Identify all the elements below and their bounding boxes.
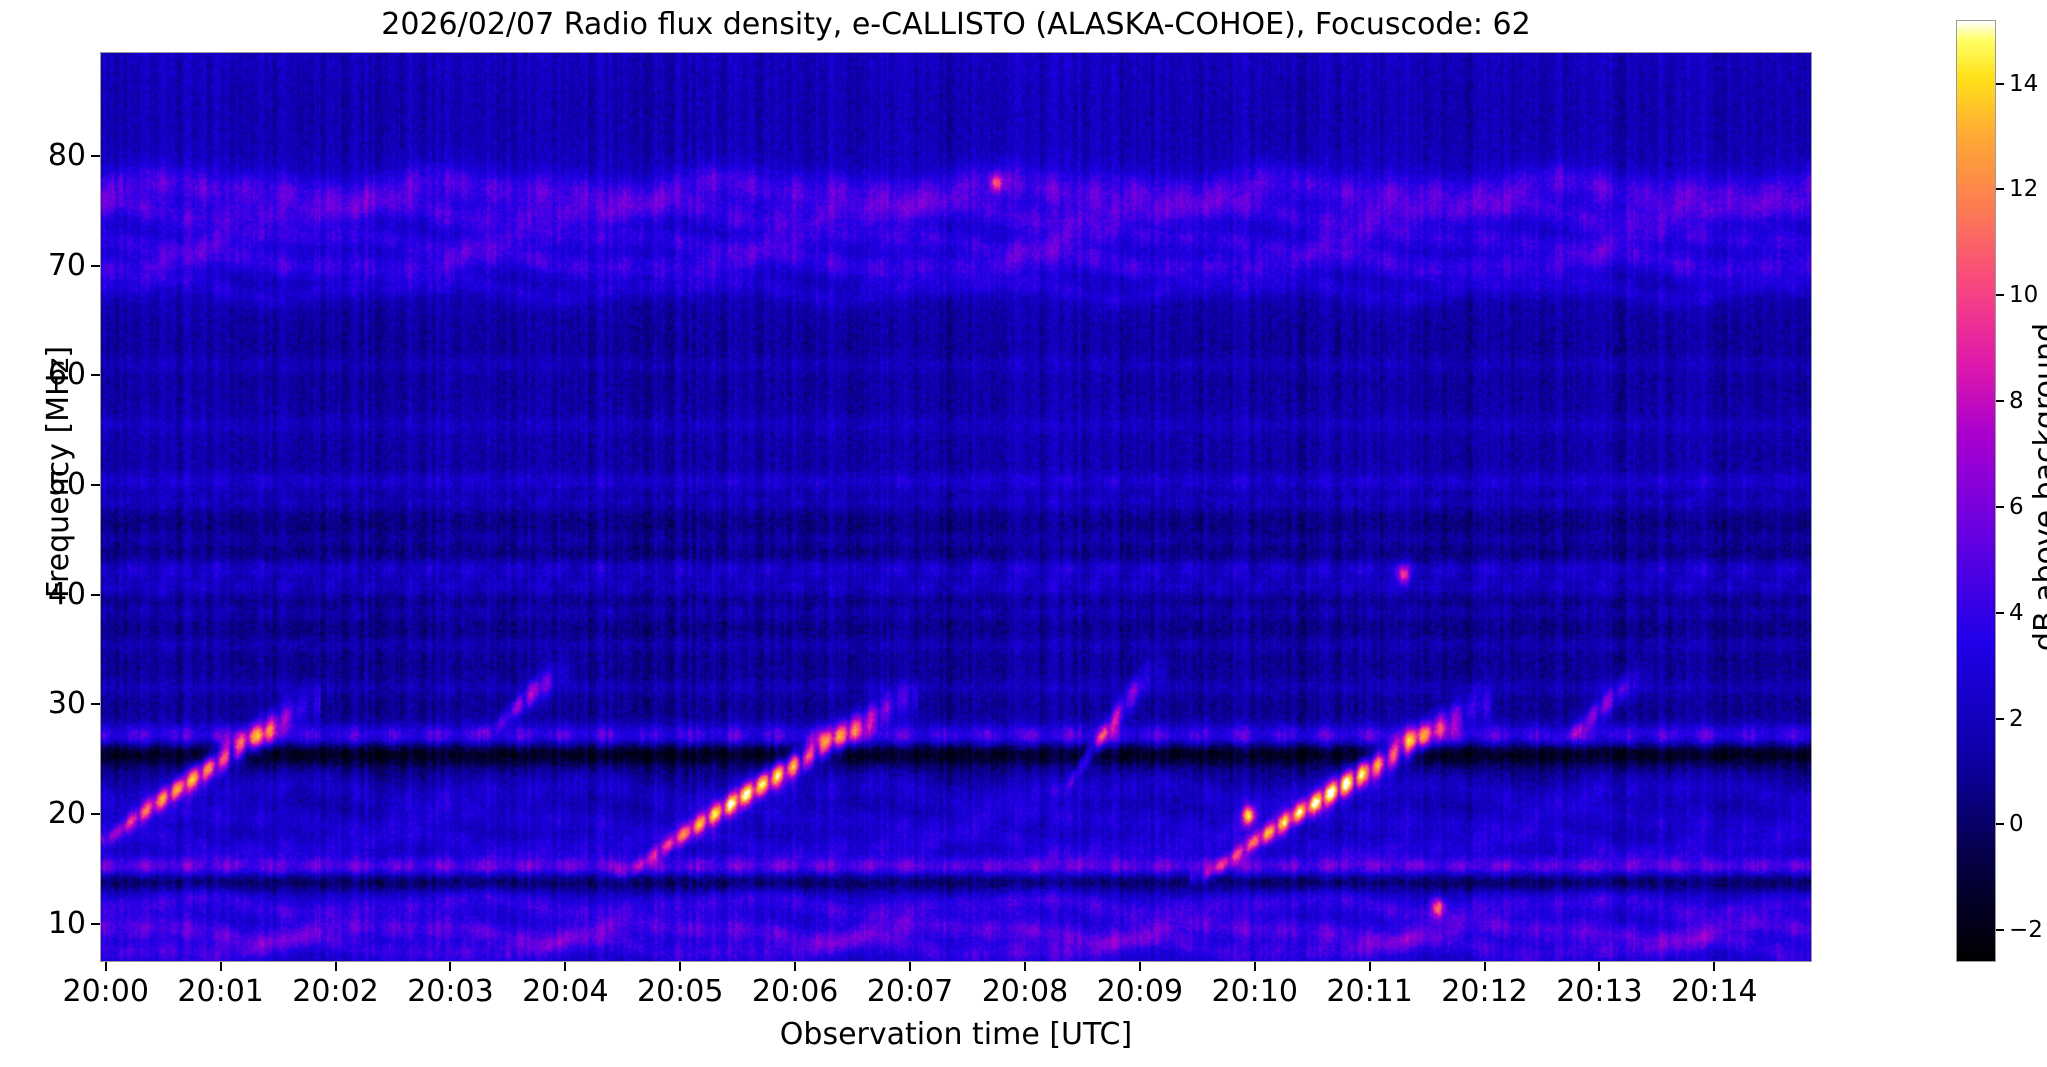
x-tick-mark — [564, 962, 566, 971]
y-tick-mark — [91, 374, 100, 376]
x-tick-mark — [1713, 962, 1715, 971]
y-tick-mark — [91, 594, 100, 596]
colorbar — [1956, 20, 1996, 962]
x-tick-mark — [105, 962, 107, 971]
y-tick-mark — [91, 265, 100, 267]
y-tick-mark — [91, 484, 100, 486]
x-tick-label: 20:14 — [1634, 974, 1794, 1010]
y-tick-mark — [91, 703, 100, 705]
x-tick-mark — [220, 962, 222, 971]
x-tick-mark — [335, 962, 337, 971]
colorbar-label: dB above background — [2029, 16, 2047, 958]
colorbar-gradient — [1957, 21, 1995, 961]
x-tick-mark — [1139, 962, 1141, 971]
spectrogram-plot-area — [100, 52, 1812, 962]
y-axis-label: Frequency [MHz] — [42, 17, 76, 927]
x-tick-mark — [909, 962, 911, 971]
y-tick-mark — [91, 155, 100, 157]
y-tick-mark — [91, 813, 100, 815]
chart-title: 2026/02/07 Radio flux density, e-CALLIST… — [100, 6, 1812, 44]
x-axis-ticks: 20:0020:0120:0220:0320:0420:0520:0620:07… — [0, 962, 2047, 1022]
x-tick-mark — [1369, 962, 1371, 971]
x-tick-mark — [449, 962, 451, 971]
y-tick-mark — [91, 923, 100, 925]
x-tick-mark — [1024, 962, 1026, 971]
y-axis-label-wrap: Frequency [MHz] — [8, 0, 42, 1067]
x-tick-mark — [794, 962, 796, 971]
x-axis-label: Observation time [UTC] — [100, 1016, 1812, 1054]
spectrogram-image — [101, 53, 1811, 961]
x-tick-mark — [1598, 962, 1600, 971]
x-tick-mark — [679, 962, 681, 971]
x-tick-mark — [1484, 962, 1486, 971]
x-tick-mark — [1254, 962, 1256, 971]
colorbar-label-wrap: dB above background — [2000, 0, 2047, 1067]
